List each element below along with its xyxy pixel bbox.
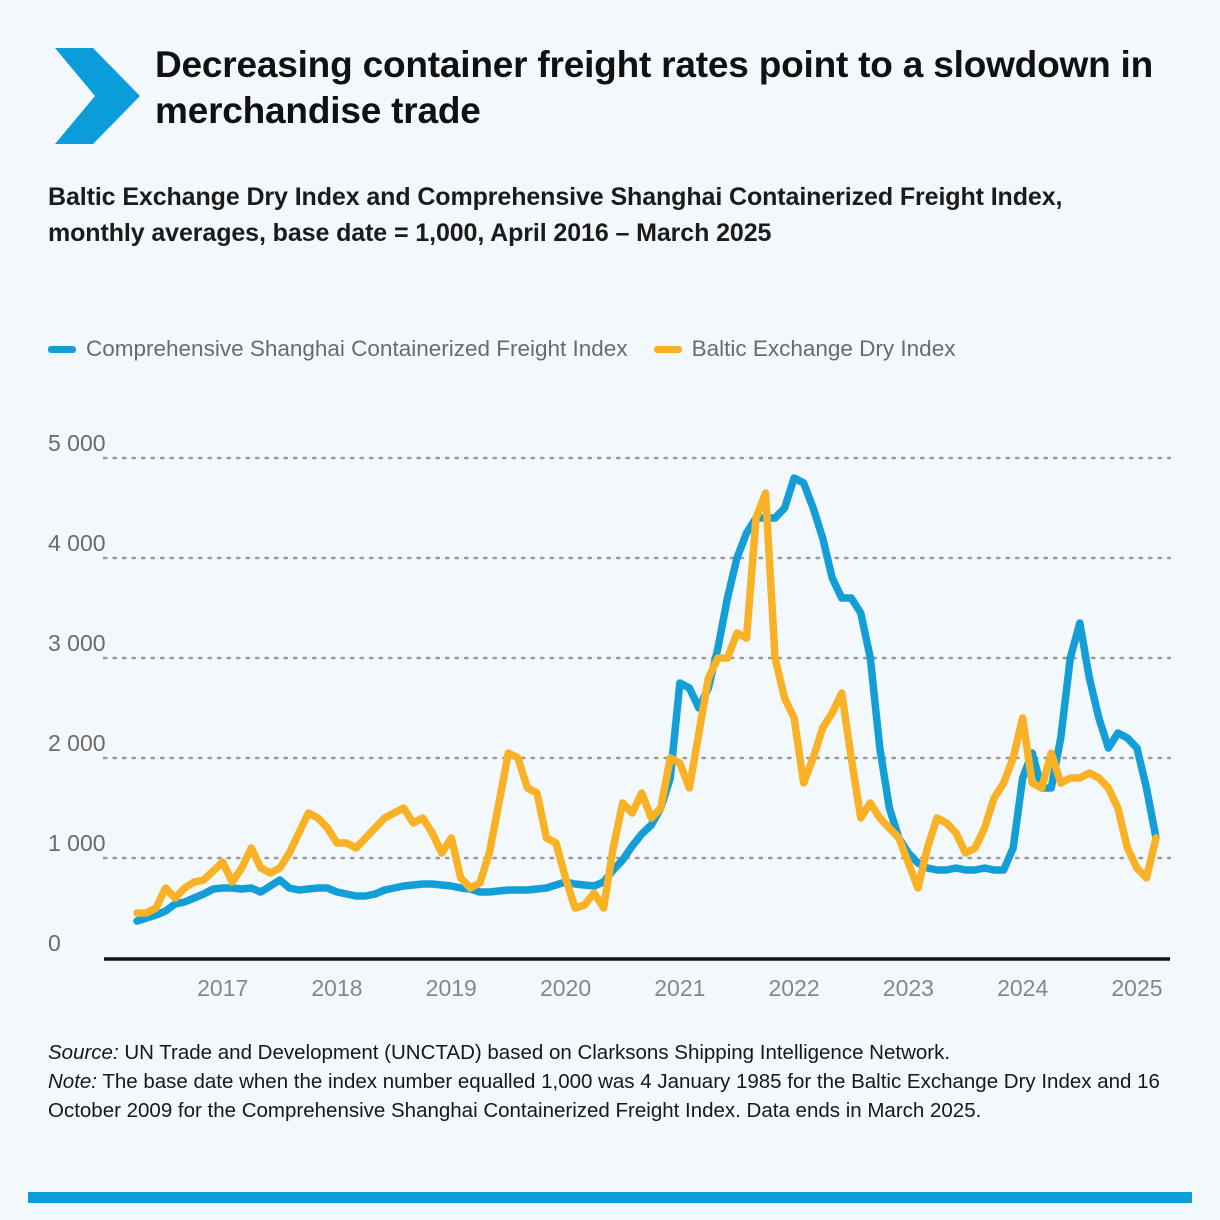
chart-series-layer [137, 478, 1156, 921]
x-tick-label-2019: 2019 [411, 975, 491, 1002]
series-line-bdi [137, 493, 1156, 913]
y-tick-label-1000: 1 000 [48, 830, 106, 857]
source-text: UN Trade and Development (UNCTAD) based … [119, 1041, 950, 1064]
chart-legend: Comprehensive Shanghai Containerized Fre… [48, 336, 955, 362]
legend-swatch-orange-icon [654, 346, 682, 353]
chart-gridlines [104, 458, 1170, 858]
note-line: Note: The base date when the index numbe… [48, 1067, 1178, 1125]
chevron-right-icon [55, 48, 140, 144]
y-tick-label-5000: 5 000 [48, 430, 106, 457]
y-tick-label-0: 0 [48, 930, 61, 957]
page-subtitle: Baltic Exchange Dry Index and Comprehens… [48, 180, 1133, 251]
legend-item-bdi[interactable]: Baltic Exchange Dry Index [654, 336, 956, 362]
note-label: Note: [48, 1070, 97, 1093]
note-text: The base date when the index number equa… [48, 1070, 1160, 1122]
x-tick-label-2018: 2018 [297, 975, 377, 1002]
y-tick-label-4000: 4 000 [48, 530, 106, 557]
page-title: Decreasing container freight rates point… [155, 42, 1155, 135]
legend-item-scfi[interactable]: Comprehensive Shanghai Containerized Fre… [48, 336, 628, 362]
chart-footnotes: Source: UN Trade and Development (UNCTAD… [48, 1038, 1178, 1125]
legend-label-scfi: Comprehensive Shanghai Containerized Fre… [86, 336, 628, 362]
legend-swatch-blue-icon [48, 346, 76, 353]
source-line: Source: UN Trade and Development (UNCTAD… [48, 1038, 1178, 1067]
chart-page: Decreasing container freight rates point… [0, 0, 1220, 1220]
legend-label-bdi: Baltic Exchange Dry Index [692, 336, 956, 362]
x-tick-label-2020: 2020 [526, 975, 606, 1002]
series-line-scfi [137, 478, 1156, 921]
x-tick-label-2022: 2022 [754, 975, 834, 1002]
bottom-accent-bar [28, 1192, 1192, 1203]
y-tick-label-2000: 2 000 [48, 730, 106, 757]
y-tick-label-3000: 3 000 [48, 630, 106, 657]
x-tick-label-2024: 2024 [983, 975, 1063, 1002]
source-label: Source: [48, 1041, 119, 1064]
x-tick-label-2017: 2017 [183, 975, 263, 1002]
x-tick-label-2025: 2025 [1097, 975, 1177, 1002]
x-tick-label-2021: 2021 [640, 975, 720, 1002]
x-tick-label-2023: 2023 [868, 975, 948, 1002]
